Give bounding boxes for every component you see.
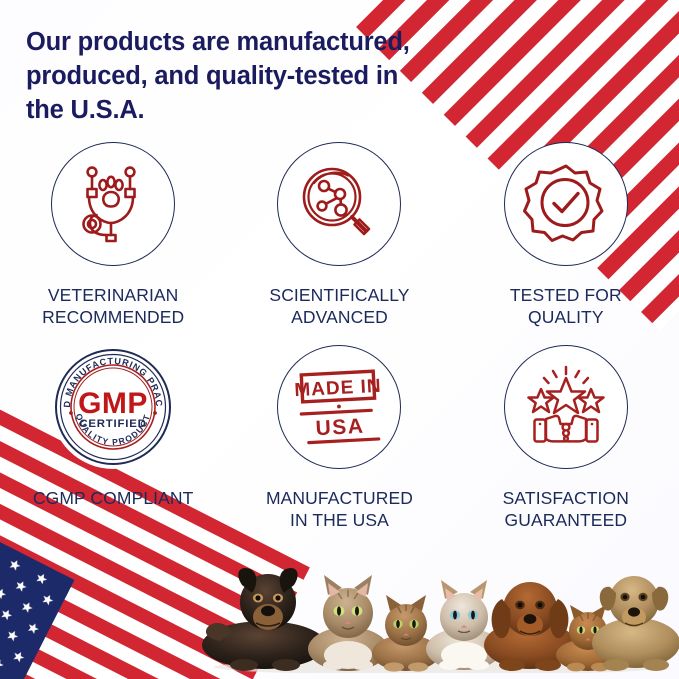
badge-label: CGMP COMPLIANT [33, 487, 194, 509]
badge-cgmp-compliant: GOOD MANUFACTURING PRACTICE QUALITY PROD… [0, 345, 226, 548]
thumbs-up-stars-icon [522, 363, 610, 451]
headline-line-1: Our products are manufactured, [26, 26, 496, 60]
pets-group-photo [196, 545, 679, 673]
gmp-sub-text: CERTIFIED [79, 418, 146, 430]
magnifier-molecule-icon [296, 161, 382, 247]
badge-manufactured-in-the-usa: MADE IN USA MANUFACTURED IN THE USA [226, 345, 452, 548]
pet-cat-tabby-2 [372, 595, 440, 672]
badge-circle [504, 345, 628, 469]
badge-label: MANUFACTURED IN THE USA [266, 487, 413, 531]
rosette-check-icon [523, 161, 609, 247]
badge-scientifically-advanced: SCIENTIFICALLY ADVANCED [226, 142, 452, 345]
stethoscope-paw-icon [70, 161, 156, 247]
badge-label: SATISFACTION GUARANTEED [503, 487, 629, 531]
badge-satisfaction-guaranteed: SATISFACTION GUARANTEED [453, 345, 679, 548]
badge-circle [277, 142, 401, 266]
badge-label: VETERINARIAN RECOMMENDED [42, 284, 184, 328]
pet-dog-black-tan [202, 568, 326, 671]
badge-label: TESTED FOR QUALITY [510, 284, 622, 328]
infographic-canvas: Our products are manufactured, produced,… [0, 0, 679, 679]
stamp-line-2: USA [316, 415, 366, 441]
badge-circle: GOOD MANUFACTURING PRACTICE QUALITY PROD… [51, 345, 175, 469]
badge-circle: MADE IN USA [277, 345, 401, 469]
badge-circle [51, 142, 175, 266]
badge-label: SCIENTIFICALLY ADVANCED [269, 284, 409, 328]
badge-circle [504, 142, 628, 266]
headline-line-2: produced, and quality-tested in [26, 60, 496, 94]
made-in-usa-stamp-icon: MADE IN USA [293, 361, 385, 453]
gmp-center-text: GMP [78, 387, 148, 420]
badge-tested-for-quality: TESTED FOR QUALITY [453, 142, 679, 345]
gmp-certified-seal-icon: GOOD MANUFACTURING PRACTICE QUALITY PROD… [51, 345, 175, 469]
page-title: Our products are manufactured, produced,… [26, 26, 496, 128]
trust-badge-grid: VETERINARIAN RECOMMENDED [0, 142, 679, 548]
badge-veterinarian-recommended: VETERINARIAN RECOMMENDED [0, 142, 226, 345]
headline-line-3: the U.S.A. [26, 94, 496, 128]
